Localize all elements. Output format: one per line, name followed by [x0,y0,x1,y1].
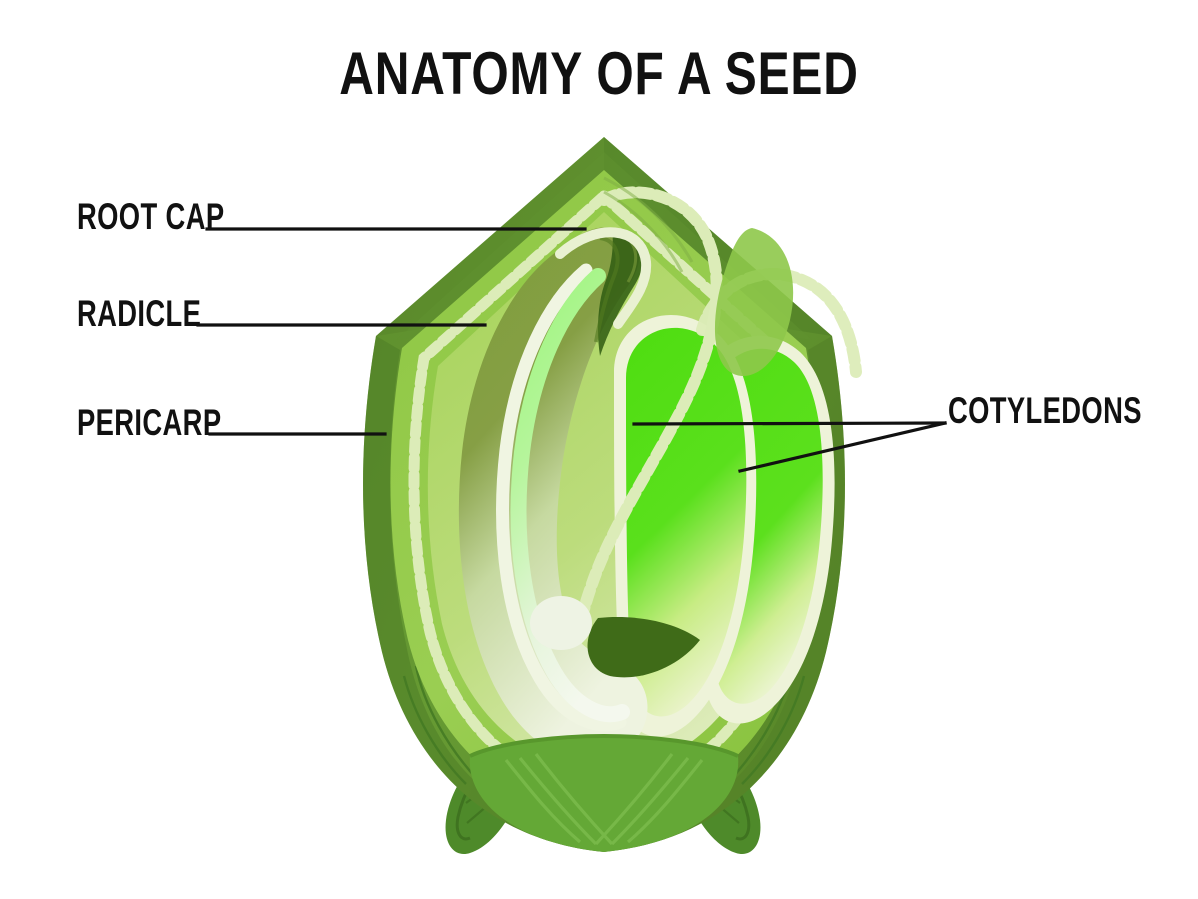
label-radicle: RADICLE [77,295,201,332]
label-pericarp: PERICARP [77,404,221,441]
leader-cotyledon-upper [634,423,945,424]
seed-anatomy-diagram: ANATOMY OF A SEED [0,0,1198,899]
label-root-cap: ROOT CAP [77,198,224,235]
leader-cotyledon-lower [740,423,945,471]
label-cotyledons: COTYLEDONS [948,392,1142,429]
leader-lines [0,0,1198,899]
